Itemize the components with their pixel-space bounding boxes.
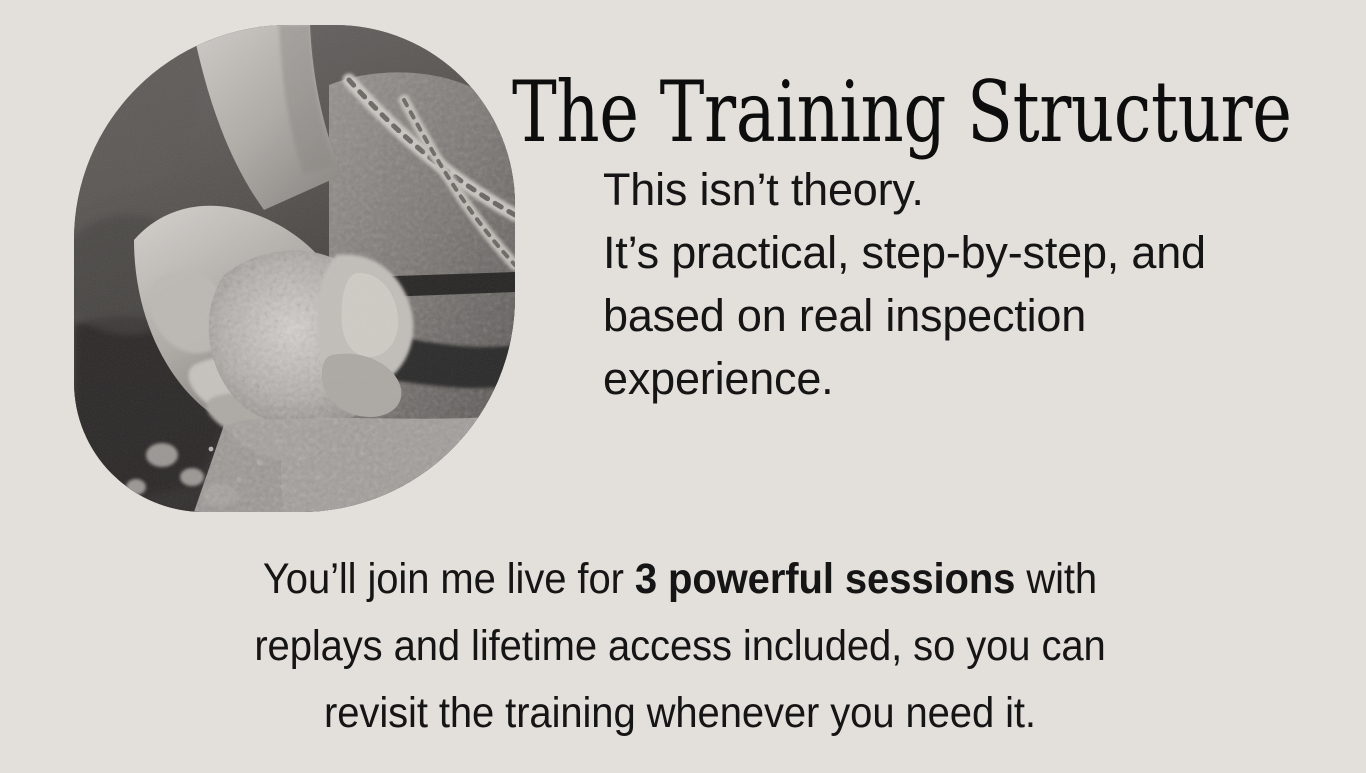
footer-line-1-prefix: You’ll join me live for bbox=[263, 555, 635, 603]
footer-line-1-suffix: with bbox=[1015, 555, 1097, 603]
footer-line-3: revisit the training whenever you need i… bbox=[103, 680, 1256, 747]
hands-holding-sand-photo bbox=[74, 25, 515, 512]
footer-paragraph: You’ll join me live for 3 powerful sessi… bbox=[60, 546, 1300, 747]
photo-illustration bbox=[74, 25, 515, 512]
body-line-1: This isn’t theory. bbox=[603, 158, 1333, 221]
page-title: The Training Structure bbox=[512, 70, 1152, 156]
body-line-3: based on real inspection bbox=[603, 284, 1333, 347]
body-line-4: experience. bbox=[603, 347, 1333, 410]
footer-highlight-sessions: 3 powerful sessions bbox=[635, 555, 1015, 603]
body-line-2: It’s practical, step-by-step, and bbox=[603, 221, 1333, 284]
body-text-block: This isn’t theory. It’s practical, step-… bbox=[603, 158, 1333, 410]
footer-line-2: replays and lifetime access included, so… bbox=[103, 613, 1256, 680]
footer-line-1: You’ll join me live for 3 powerful sessi… bbox=[103, 546, 1256, 613]
slide-canvas: The Training Structure This isn’t theory… bbox=[0, 0, 1366, 773]
